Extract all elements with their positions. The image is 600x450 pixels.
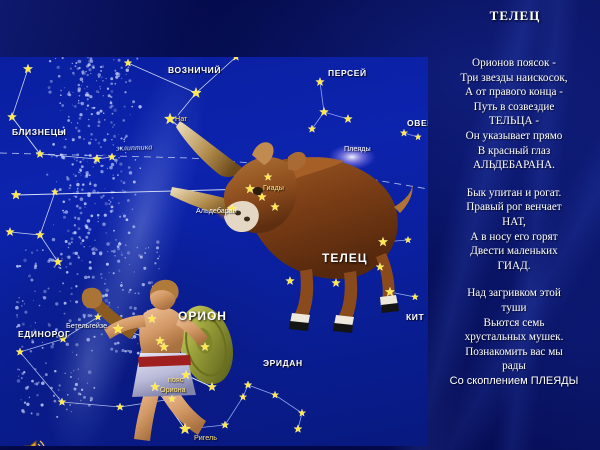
star-map[interactable]: ВОЗНИЧИЙПЕРСЕЙБЛИЗНЕЦЫОВЕНТЕЛЕЦОРИОНЕДИН… [0, 57, 428, 446]
star-point [258, 193, 266, 201]
star-label-6: Ориона [160, 385, 186, 394]
star-label-5: пояс [168, 375, 183, 384]
constellation-label-6: ЕДИНОРОГ [18, 329, 70, 339]
poem-line: Вьются семь [428, 316, 600, 331]
star-point [113, 323, 124, 333]
star-point [208, 382, 217, 390]
star-point [11, 190, 21, 199]
star-point [191, 88, 201, 98]
poem-line: Он указывает прямо [428, 129, 600, 144]
star-point [165, 113, 176, 124]
constellation-label-4: ТЕЛЕЦ [322, 251, 368, 265]
star-point [264, 173, 272, 180]
poem-line: Правый рог венчает [428, 200, 600, 215]
constellation-label-1: ПЕРСЕЙ [328, 68, 367, 78]
star-point [385, 287, 394, 296]
star-point [8, 112, 17, 120]
star-label-3: Альдебаран [196, 206, 237, 215]
star-point [116, 403, 124, 410]
star-point [316, 78, 324, 86]
star-point [58, 398, 66, 405]
star-point [168, 395, 175, 402]
star-point [239, 393, 246, 400]
star-point [93, 154, 102, 162]
star-point [412, 293, 419, 300]
star-point [180, 423, 191, 434]
star-point [36, 231, 44, 239]
star-point [94, 313, 101, 320]
star-point [124, 59, 132, 66]
star-point [244, 381, 252, 388]
constellation-label-2: БЛИЗНЕЦЫ [12, 127, 66, 137]
poem-stanza: Орионов поясок -Три звезды наискосок,А о… [428, 56, 600, 173]
page-title: ТЕЛЕЦ [430, 8, 600, 24]
star-point [405, 236, 412, 243]
star-point [245, 184, 254, 193]
constellation-label-0: ВОЗНИЧИЙ [168, 65, 221, 75]
poem-line: туши [428, 301, 600, 316]
star-point [148, 314, 157, 322]
star-point [332, 279, 340, 287]
star-point [286, 277, 294, 285]
star-point [344, 115, 352, 123]
star-point [16, 348, 24, 355]
poem-text: Орионов поясок -Три звезды наискосок,А о… [428, 56, 600, 401]
star-point [400, 129, 407, 136]
star-point [308, 125, 316, 132]
poem-line: НАТ, [428, 215, 600, 230]
star-point [271, 391, 278, 398]
poem-line: АЛЬДЕБАРАНА. [428, 158, 600, 173]
constellation-label-8: ЭРИДАН [263, 358, 303, 368]
star-label-7: Ригель [194, 433, 217, 442]
star-point [150, 382, 159, 391]
poem-stanza: Над загривком этойтушиВьются семьхрустал… [428, 286, 600, 388]
poem-line: Три звезды наискосок, [428, 71, 600, 86]
star-point [415, 134, 421, 140]
speaker-icon[interactable] [22, 438, 48, 446]
star-point [294, 425, 302, 433]
star-label-0: Нат [175, 114, 187, 123]
poem-line: ГИАД. [428, 259, 600, 274]
poem-line: рады [428, 359, 600, 374]
constellation-label-5: ОРИОН [178, 309, 227, 323]
poem-line: Над загривком этой [428, 286, 600, 301]
poem-line: В красный глаз [428, 144, 600, 159]
star-point [6, 228, 14, 236]
poem-line: Со скоплением ПЛЕЯДЫ [428, 374, 600, 389]
poem-line: хрустальных мушек. [428, 330, 600, 345]
poem-line: А от правого конца - [428, 85, 600, 100]
star-point [36, 150, 44, 158]
star-point [156, 336, 165, 344]
poem-line: А в носу его горят [428, 230, 600, 245]
poem-line: Путь в созвездие [428, 100, 600, 115]
constellation-label-3: ОВЕН [407, 118, 428, 128]
poem-stanza: Бык упитан и рогат.Правый рог венчаетНАТ… [428, 186, 600, 274]
star-point [201, 342, 210, 350]
star-label-2: Гиады [263, 183, 284, 192]
poem-line: Бык упитан и рогат. [428, 186, 600, 201]
poem-line: Двести маленьких [428, 244, 600, 259]
ecliptic-label: эклиптика [116, 142, 153, 152]
star-point [376, 263, 384, 271]
star-point [23, 64, 32, 73]
star-point [51, 188, 58, 195]
star-point [320, 107, 329, 115]
star-point [378, 237, 387, 246]
star-point [271, 203, 279, 211]
star-point [54, 257, 63, 265]
star-point [108, 153, 116, 160]
star-label-4: Бетельгейзе [66, 321, 107, 330]
poem-line: Орионов поясок - [428, 56, 600, 71]
star-point [298, 409, 305, 416]
poem-line: Познакомить вас мы [428, 345, 600, 360]
star-point [232, 57, 240, 60]
star-point [221, 421, 229, 428]
slide-canvas: ТЕЛЕЦ Орионов поясок -Три звезды наискос… [0, 0, 600, 450]
poem-line: ТЕЛЬЦА - [428, 114, 600, 129]
star-label-1: Плеяды [344, 144, 371, 153]
constellation-label-7: КИТ [406, 312, 424, 322]
